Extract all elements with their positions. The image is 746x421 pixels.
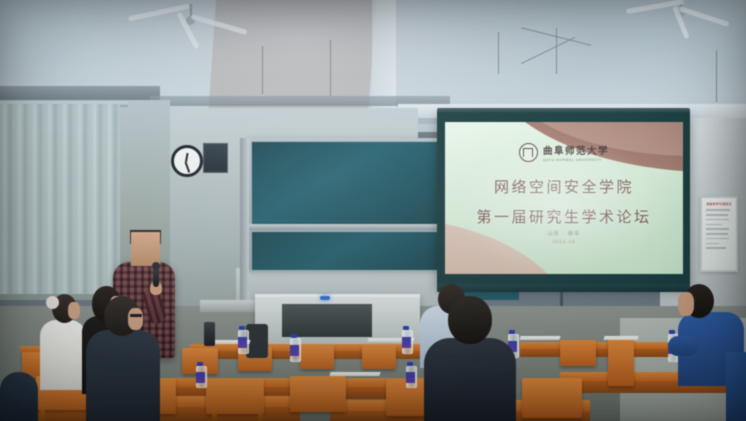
chair bbox=[560, 340, 596, 366]
chair-leg bbox=[212, 408, 217, 421]
poster-text-line bbox=[706, 219, 729, 221]
paper-sheet bbox=[519, 336, 560, 340]
thermos-flask bbox=[204, 322, 215, 346]
poster-text-line bbox=[706, 214, 728, 216]
chair-leg bbox=[258, 408, 263, 421]
university-name-english: QUFU NORMAL UNIVERSITY bbox=[543, 158, 602, 162]
chair bbox=[300, 344, 334, 369]
attendee-white-top-body bbox=[40, 320, 86, 390]
chair-leg bbox=[40, 404, 45, 421]
lamp-wire bbox=[262, 46, 263, 94]
window-curtains bbox=[0, 104, 120, 294]
speaker-head bbox=[131, 232, 160, 266]
lamp-wire bbox=[330, 40, 331, 96]
bottle-label bbox=[402, 337, 411, 348]
attendee-edge-right bbox=[726, 352, 746, 421]
wall-speaker-box bbox=[203, 143, 228, 173]
university-logo: 曲阜师范大学 QUFU NORMAL UNIVERSITY bbox=[519, 142, 609, 162]
wall-notice-poster: 课堂教学管理规定 bbox=[700, 196, 738, 272]
poster-text-line bbox=[706, 238, 729, 240]
clock-minute-hand bbox=[185, 162, 190, 173]
bottle-label bbox=[238, 337, 247, 348]
attendee-blue-jacket-arm bbox=[668, 336, 698, 356]
attendee-white-top-face bbox=[68, 302, 80, 319]
slide-title-line-1: 网络空间安全学院 bbox=[494, 176, 634, 197]
poster-text-line bbox=[706, 247, 726, 249]
slide-footer: 山东 · 曲阜 2022.10 bbox=[445, 230, 683, 244]
paper-sheet bbox=[329, 372, 380, 376]
slide-content: 曲阜师范大学 QUFU NORMAL UNIVERSITY 网络空间安全学院 第… bbox=[445, 122, 683, 274]
classroom-photo: 曲阜师范大学 QUFU NORMAL UNIVERSITY 网络空间安全学院 第… bbox=[0, 0, 746, 421]
podium-equipment-bay bbox=[282, 304, 372, 337]
slide-footer-place: 山东 · 曲阜 bbox=[445, 230, 683, 237]
chair-front bbox=[290, 376, 346, 412]
eyeglasses-icon bbox=[130, 314, 142, 317]
bottle-label bbox=[196, 372, 205, 383]
paper-sheet bbox=[603, 336, 638, 340]
blackboard-chalk-rail bbox=[249, 224, 457, 230]
attendee-glasses-body bbox=[86, 330, 160, 421]
lamp-wire bbox=[716, 50, 717, 102]
attendee-glasses-face bbox=[128, 308, 143, 330]
chair-front bbox=[522, 378, 582, 418]
attendee-navy-jacket-body bbox=[424, 338, 516, 421]
presentation-slide: 曲阜师范大学 QUFU NORMAL UNIVERSITY 网络空间安全学院 第… bbox=[445, 122, 683, 274]
ceiling-beam-left bbox=[0, 86, 160, 100]
seal-glyph bbox=[523, 148, 533, 157]
bottle-label bbox=[290, 345, 299, 356]
poster-text-line bbox=[706, 243, 719, 245]
poster-text-line bbox=[706, 228, 729, 230]
bottle-label bbox=[406, 372, 415, 383]
slide-footer-date: 2022.10 bbox=[445, 239, 683, 244]
projector-screen-support bbox=[560, 292, 563, 306]
blackboard-upper-panel bbox=[251, 141, 457, 225]
blackboard-left-edge bbox=[240, 138, 249, 306]
poster-text-line bbox=[706, 209, 730, 211]
blackboard-lower-panel bbox=[251, 231, 457, 271]
university-seal-icon bbox=[519, 143, 538, 162]
microphone-capsule bbox=[152, 262, 160, 270]
podium-indicator-light bbox=[320, 296, 330, 300]
chair-tall bbox=[608, 338, 634, 386]
attendee-edge-bottom-left bbox=[0, 372, 38, 421]
attendee-blue-jacket-face bbox=[678, 292, 694, 316]
slide-title-line-2: 第一届研究生学术论坛 bbox=[476, 206, 651, 227]
poster-text-line bbox=[706, 224, 722, 226]
lamp-wire bbox=[556, 28, 557, 74]
poster-text-line bbox=[706, 233, 728, 235]
attendee-hair-tie bbox=[46, 296, 59, 309]
wall-clock-icon bbox=[171, 145, 203, 177]
attendee-navy-jacket-head bbox=[448, 296, 492, 344]
projector-screen-bottom-bar bbox=[437, 284, 690, 292]
chair bbox=[362, 344, 396, 369]
poster-heading: 课堂教学管理规定 bbox=[706, 202, 732, 206]
lamp-wire bbox=[498, 32, 499, 74]
university-name: 曲阜师范大学 bbox=[543, 143, 609, 157]
